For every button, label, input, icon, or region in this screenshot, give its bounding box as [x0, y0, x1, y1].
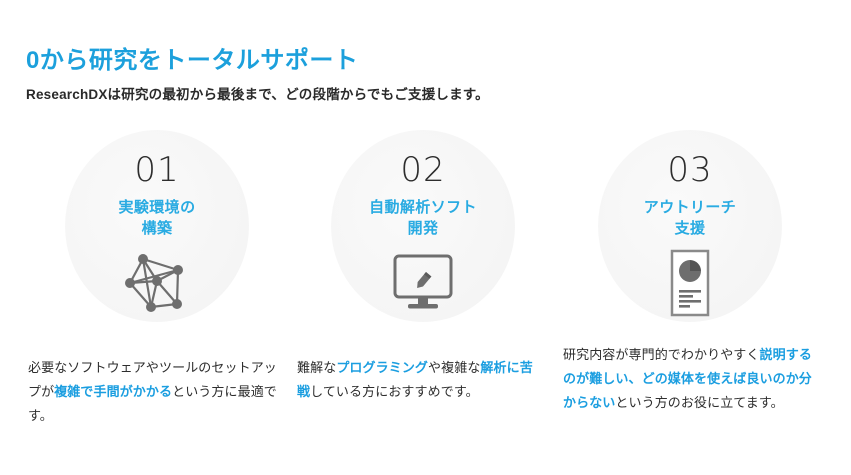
card-title-line2: 開発	[408, 220, 439, 237]
card-number: 01	[62, 150, 252, 190]
service-cards-row: 01 実験環境の 構築	[0, 128, 851, 338]
card-title-line2: 構築	[142, 220, 173, 237]
card-title: 自動解析ソフト 開発	[328, 197, 518, 240]
card-title-line1: 自動解析ソフト	[369, 199, 477, 216]
service-card-1[interactable]: 01 実験環境の 構築	[62, 128, 252, 324]
card-title: 実験環境の 構築	[62, 197, 252, 240]
service-card-3[interactable]: 03 アウトリーチ 支援	[595, 128, 785, 324]
card-number: 02	[328, 150, 518, 190]
desc-text-pre: 難解な	[297, 360, 336, 375]
desc-text-post: という方のお役に立てます。	[615, 395, 783, 410]
card-descriptions-row: 必要なソフトウェアやツールのセットアップが複雑で手間がかかるという方に最適です。…	[0, 330, 851, 470]
page-subtitle: ResearchDXは研究の最初から最後まで、どの段階からでもご支援します。	[26, 83, 489, 103]
monitor-pen-icon	[380, 246, 466, 320]
desc-text-mid: や複雑な	[428, 360, 480, 375]
desc-text-post: している方におすすめです。	[310, 384, 479, 399]
card-description-1: 必要なソフトウェアやツールのセットアップが複雑で手間がかかるという方に最適です。	[28, 356, 280, 428]
card-title: アウトリーチ 支援	[595, 197, 785, 240]
network-graph-icon	[114, 246, 200, 320]
card-title-line1: アウトリーチ	[644, 199, 736, 216]
card-number: 03	[595, 150, 785, 190]
desc-text-pre: 研究内容が専門的でわかりやすく	[563, 347, 760, 362]
page-title: 0から研究をトータルサポート	[26, 40, 358, 75]
desc-text-highlight: プログラミング	[336, 360, 428, 375]
card-title-line2: 支援	[675, 220, 706, 237]
card-description-3: 研究内容が専門的でわかりやすく説明するのが難しい、どの媒体を使えば良いのか分から…	[563, 343, 821, 415]
service-card-2[interactable]: 02 自動解析ソフト 開発	[328, 128, 518, 324]
card-description-2: 難解なプログラミングや複雑な解析に苦戦している方におすすめです。	[297, 356, 545, 404]
document-piechart-icon	[647, 246, 733, 320]
card-title-line1: 実験環境の	[118, 199, 195, 216]
desc-text-highlight: 複雑で手間がかかる	[54, 384, 172, 399]
